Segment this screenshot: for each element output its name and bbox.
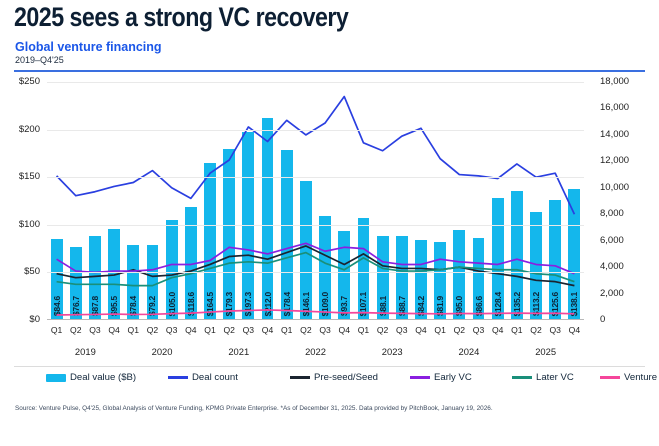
legend-item[interactable]: Deal value ($B) xyxy=(46,372,136,383)
x-axis-year-label: 2021 xyxy=(200,346,277,357)
line-series-venture-growth xyxy=(57,310,575,315)
gridline xyxy=(47,82,584,83)
x-axis-year-label: 2023 xyxy=(354,346,431,357)
legend-item[interactable]: Pre-seed/Seed xyxy=(290,372,378,383)
x-axis-quarter-label: Q3 xyxy=(392,325,411,335)
y-axis-right-tick: 12,000 xyxy=(600,155,629,166)
legend-bar-swatch xyxy=(46,374,66,382)
y-axis-left-tick: $250 xyxy=(0,76,40,87)
legend-label: Deal value ($B) xyxy=(70,372,136,383)
line-series-pre-seed-seed xyxy=(57,246,575,286)
y-axis-right-tick: 14,000 xyxy=(600,129,629,140)
chart-period: 2019–Q4'25 xyxy=(15,55,64,65)
chart-subtitle: Global venture financing xyxy=(15,40,162,54)
legend-label: Early VC xyxy=(434,372,472,383)
y-axis-left-tick: $100 xyxy=(0,219,40,230)
x-axis-line xyxy=(47,319,584,320)
x-axis-quarter-label: Q3 xyxy=(239,325,258,335)
y-axis-right-tick: 4,000 xyxy=(600,261,624,272)
source-note: Source: Venture Pulse, Q4'25, Global Ana… xyxy=(15,405,493,412)
x-axis-quarter-label: Q3 xyxy=(85,325,104,335)
y-axis-right-tick: 8,000 xyxy=(600,208,624,219)
x-axis-quarter-label: Q4 xyxy=(105,325,124,335)
legend-line-swatch xyxy=(600,376,620,378)
gridline xyxy=(47,130,584,131)
x-axis-quarter-label: Q2 xyxy=(526,325,545,335)
x-axis-quarter-label: Q4 xyxy=(258,325,277,335)
legend-label: Later VC xyxy=(536,372,574,383)
x-axis-quarter-label: Q2 xyxy=(450,325,469,335)
x-axis-quarter-label: Q2 xyxy=(296,325,315,335)
legend-label: Venture growth xyxy=(624,372,659,383)
x-axis-quarter-label: Q3 xyxy=(469,325,488,335)
y-axis-right-tick: 18,000 xyxy=(600,76,629,87)
legend-label: Deal count xyxy=(192,372,238,383)
gridline xyxy=(47,272,584,273)
x-axis-quarter-label: Q1 xyxy=(200,325,219,335)
y-axis-left-tick: $0 xyxy=(0,314,40,325)
x-axis-quarter-label: Q1 xyxy=(507,325,526,335)
x-axis-quarter-label: Q4 xyxy=(411,325,430,335)
y-axis-right-tick: 0 xyxy=(600,314,605,325)
legend-item[interactable]: Venture growth xyxy=(600,372,659,383)
x-axis-quarter-label: Q2 xyxy=(143,325,162,335)
legend-line-swatch xyxy=(168,376,188,378)
chart-plot-area: $84.6$76.7$87.8$95.5$78.4$79.2$105.0$118… xyxy=(47,82,584,320)
x-axis-year-label: 2022 xyxy=(277,346,354,357)
y-axis-right-tick: 2,000 xyxy=(600,288,624,299)
x-axis-quarter-label: Q4 xyxy=(181,325,200,335)
x-axis-quarter-label: Q1 xyxy=(431,325,450,335)
x-axis-quarter-label: Q4 xyxy=(565,325,584,335)
x-axis-quarter-label: Q1 xyxy=(277,325,296,335)
x-axis-quarter-label: Q1 xyxy=(124,325,143,335)
x-axis-quarter-label: Q2 xyxy=(220,325,239,335)
legend-line-swatch xyxy=(410,376,430,378)
legend-line-swatch xyxy=(290,376,310,378)
x-axis-year-label: 2025 xyxy=(507,346,584,357)
x-axis-quarter-label: Q2 xyxy=(373,325,392,335)
y-axis-right-tick: 10,000 xyxy=(600,182,629,193)
legend-item[interactable]: Deal count xyxy=(168,372,238,383)
x-axis-quarter-label: Q2 xyxy=(66,325,85,335)
gridline xyxy=(47,225,584,226)
x-axis-quarter-label: Q3 xyxy=(162,325,181,335)
line-series-later-vc xyxy=(57,253,575,286)
legend-item[interactable]: Later VC xyxy=(512,372,574,383)
y-axis-left-tick: $200 xyxy=(0,124,40,135)
x-axis-year-labels: 2019202020212022202320242025 xyxy=(47,346,584,362)
y-axis-left-tick: $150 xyxy=(0,171,40,182)
gridline xyxy=(47,177,584,178)
x-axis-quarter-label: Q4 xyxy=(335,325,354,335)
legend-label: Pre-seed/Seed xyxy=(314,372,378,383)
x-axis-quarter-labels: Q1Q2Q3Q4Q1Q2Q3Q4Q1Q2Q3Q4Q1Q2Q3Q4Q1Q2Q3Q4… xyxy=(47,325,584,343)
y-axis-left-tick: $50 xyxy=(0,266,40,277)
chart-legend: Deal value ($B)Deal countPre-seed/SeedEa… xyxy=(40,372,640,390)
y-axis-right-tick: 6,000 xyxy=(600,235,624,246)
legend-divider xyxy=(14,366,645,367)
x-axis-year-label: 2024 xyxy=(431,346,508,357)
page-title: 2025 sees a strong VC recovery xyxy=(14,2,348,33)
header-divider xyxy=(14,70,645,72)
x-axis-quarter-label: Q3 xyxy=(316,325,335,335)
x-axis-year-label: 2019 xyxy=(47,346,124,357)
y-axis-right-tick: 16,000 xyxy=(600,102,629,113)
x-axis-quarter-label: Q3 xyxy=(546,325,565,335)
line-series-deal-count xyxy=(57,97,575,215)
lines-layer xyxy=(47,82,584,320)
x-axis-quarter-label: Q1 xyxy=(354,325,373,335)
x-axis-year-label: 2020 xyxy=(124,346,201,357)
x-axis-quarter-label: Q1 xyxy=(47,325,66,335)
x-axis-quarter-label: Q4 xyxy=(488,325,507,335)
legend-item[interactable]: Early VC xyxy=(410,372,472,383)
legend-line-swatch xyxy=(512,376,532,378)
